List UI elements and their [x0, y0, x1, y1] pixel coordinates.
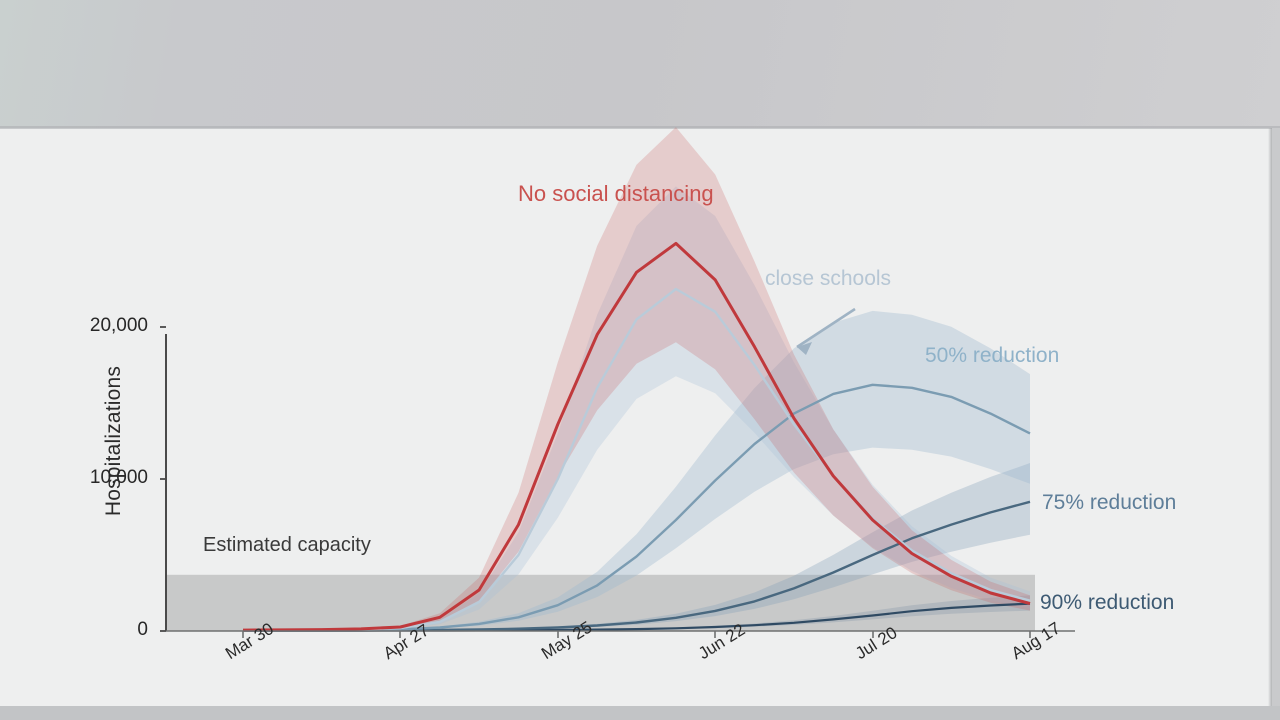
y-axis-title: Hospitalizations — [102, 321, 126, 561]
chart-svg — [0, 129, 1272, 720]
annotation-no-social-distancing: No social distancing — [518, 181, 714, 207]
annotation-75-reduction: 75% reduction — [1042, 491, 1176, 515]
right-edge-strip — [1272, 128, 1280, 720]
y-tick-label-0: 0 — [137, 619, 148, 641]
annotation-estimated-capacity: Estimated capacity — [203, 534, 371, 557]
y-tick-label-10000: 10,000 — [90, 467, 148, 489]
y-tick-label-20000: 20,000 — [90, 315, 148, 337]
annotation-close-schools: close schools — [765, 267, 891, 291]
annotation-90-reduction: 90% reduction — [1040, 591, 1174, 615]
hospitalizations-chart: Hospitalizations 20,000 10,000 0 Mar 30 … — [0, 129, 1272, 720]
top-banner — [0, 0, 1280, 128]
annotation-50-reduction: 50% reduction — [925, 344, 1059, 368]
slide-canvas: Hospitalizations 20,000 10,000 0 Mar 30 … — [0, 0, 1280, 720]
